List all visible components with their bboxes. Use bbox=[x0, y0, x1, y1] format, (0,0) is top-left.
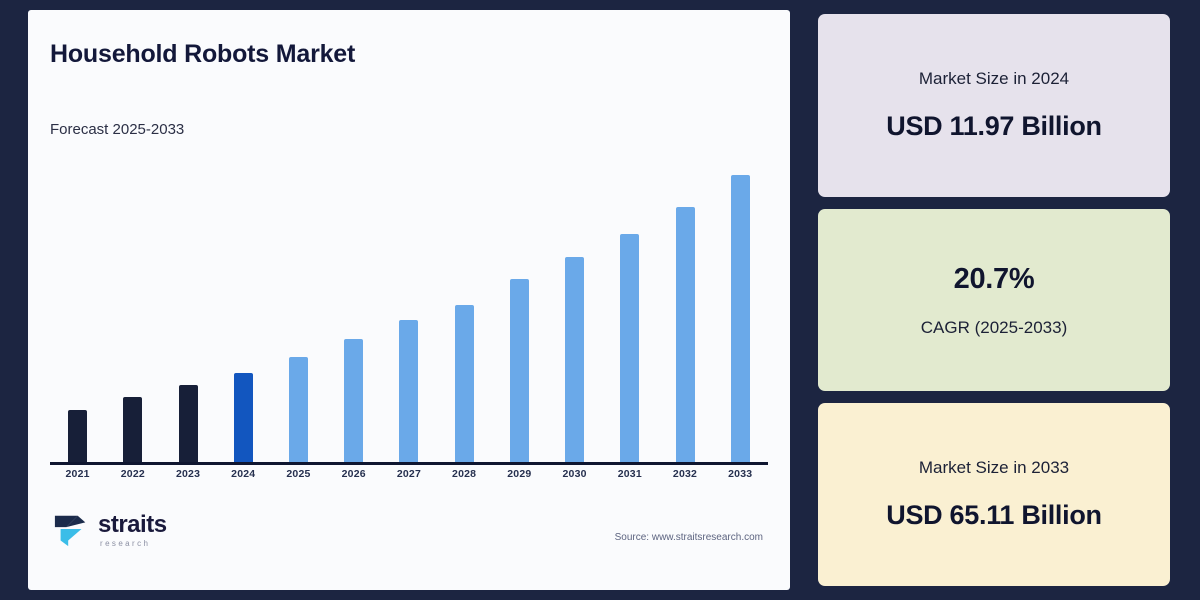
stat-card-2: 20.7%CAGR (2025-2033) bbox=[818, 209, 1170, 392]
bar-slot bbox=[713, 162, 768, 462]
bar-slot bbox=[50, 162, 105, 462]
x-label-2027: 2027 bbox=[381, 468, 436, 480]
stat-card-1: Market Size in 2024USD 11.97 Billion bbox=[818, 14, 1170, 197]
stat-card-list: Market Size in 2024USD 11.97 Billion20.7… bbox=[818, 14, 1170, 586]
source-attribution: Source: www.straitsresearch.com bbox=[615, 532, 763, 543]
x-label-2023: 2023 bbox=[161, 468, 216, 480]
x-label-2033: 2033 bbox=[713, 468, 768, 480]
bar-slot bbox=[105, 162, 160, 462]
bar-chart-plot-area bbox=[50, 160, 768, 465]
bar-2032 bbox=[676, 207, 695, 462]
stat-card-label: CAGR (2025-2033) bbox=[921, 318, 1067, 338]
bar-slot bbox=[381, 162, 436, 462]
bar-2030 bbox=[565, 257, 584, 462]
logo-subtitle: research bbox=[100, 540, 167, 548]
bar-2023 bbox=[179, 385, 198, 462]
x-label-2029: 2029 bbox=[492, 468, 547, 480]
x-label-2031: 2031 bbox=[602, 468, 657, 480]
bar-2029 bbox=[510, 279, 529, 462]
bar-slot bbox=[326, 162, 381, 462]
x-label-2026: 2026 bbox=[326, 468, 381, 480]
stat-card-label: Market Size in 2033 bbox=[919, 458, 1069, 478]
bar-slot bbox=[161, 162, 216, 462]
x-label-2030: 2030 bbox=[547, 468, 602, 480]
bar-2025 bbox=[289, 357, 308, 462]
x-label-2024: 2024 bbox=[216, 468, 271, 480]
bar-slot bbox=[547, 162, 602, 462]
x-label-2025: 2025 bbox=[271, 468, 326, 480]
x-label-2021: 2021 bbox=[50, 468, 105, 480]
bar-2031 bbox=[620, 234, 639, 462]
logo-name: straits bbox=[98, 513, 167, 537]
bar-2026 bbox=[344, 339, 363, 462]
brand-logo[interactable]: straits research bbox=[53, 508, 167, 552]
infographic-root: Household Robots Market Forecast 2025-20… bbox=[0, 0, 1200, 600]
bar-slot bbox=[602, 162, 657, 462]
bar-slot bbox=[658, 162, 713, 462]
bar-2022 bbox=[123, 397, 142, 462]
bar-slot bbox=[492, 162, 547, 462]
bar-2021 bbox=[68, 410, 87, 462]
bar-2028 bbox=[455, 305, 474, 462]
bar-slot bbox=[437, 162, 492, 462]
x-axis-line bbox=[50, 462, 768, 465]
chart-subtitle: Forecast 2025-2033 bbox=[50, 121, 184, 138]
x-label-2032: 2032 bbox=[658, 468, 713, 480]
bar-2033 bbox=[731, 175, 750, 462]
x-axis-tick-labels: 2021202220232024202520262027202820292030… bbox=[50, 468, 768, 480]
page-title: Household Robots Market bbox=[50, 40, 355, 69]
bar-2027 bbox=[399, 320, 418, 462]
stat-card-label: Market Size in 2024 bbox=[919, 69, 1069, 89]
bar-slot bbox=[271, 162, 326, 462]
bar-slot bbox=[216, 162, 271, 462]
x-label-2028: 2028 bbox=[437, 468, 492, 480]
stat-card-value: 20.7% bbox=[954, 263, 1035, 296]
x-label-2022: 2022 bbox=[105, 468, 160, 480]
stat-card-value: USD 11.97 Billion bbox=[886, 111, 1101, 142]
straits-research-logo-icon bbox=[53, 508, 91, 552]
chart-panel: Household Robots Market Forecast 2025-20… bbox=[28, 10, 790, 590]
bar-2024 bbox=[234, 373, 253, 462]
bar-series bbox=[50, 162, 768, 462]
stat-card-3: Market Size in 2033USD 65.11 Billion bbox=[818, 403, 1170, 586]
stat-card-value: USD 65.11 Billion bbox=[886, 500, 1101, 531]
